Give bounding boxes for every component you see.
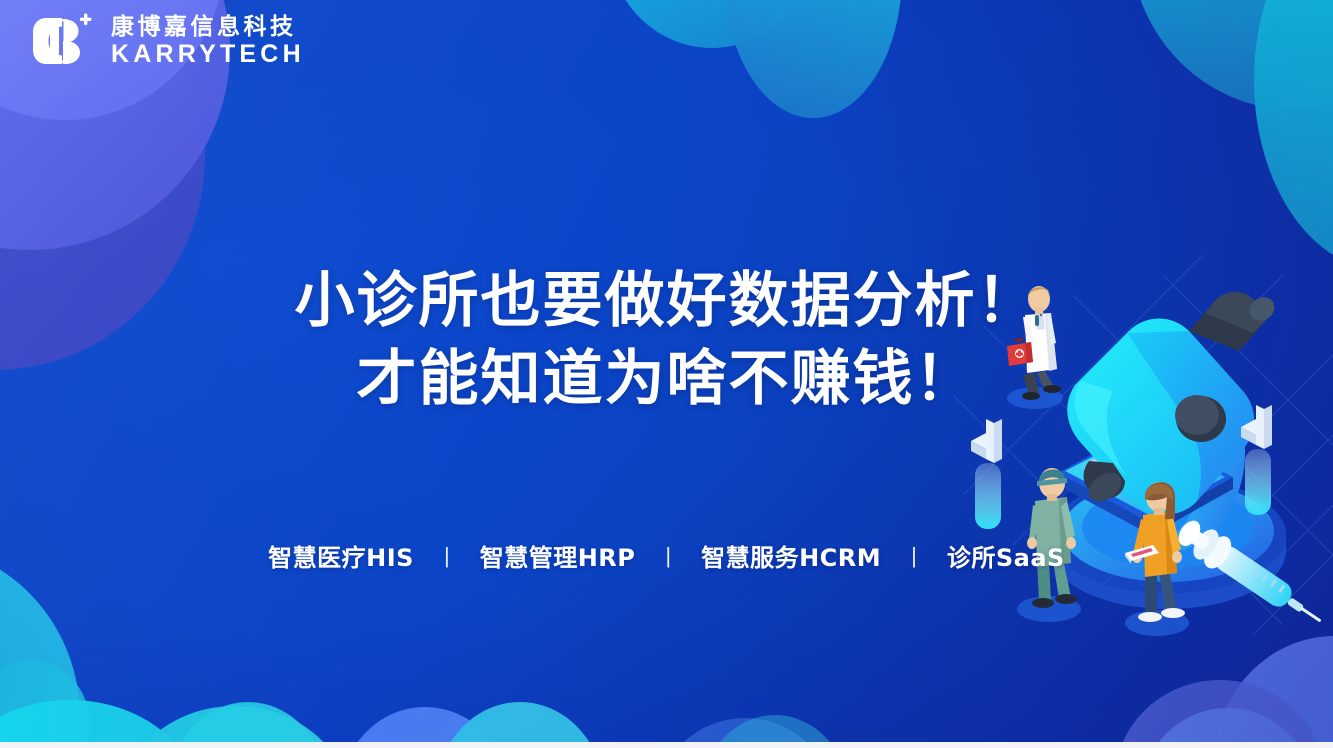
doctor-with-first-aid-kit	[1007, 286, 1063, 409]
decorative-blob-bottom-8	[1115, 680, 1325, 748]
brand-name-en: KARRYTECH	[111, 41, 305, 67]
bottom-strip	[0, 742, 1333, 748]
nav-item-his[interactable]: 智慧医疗HIS	[252, 538, 430, 573]
brand-wordmark: 康博嘉信息科技 KARRYTECH	[111, 15, 305, 68]
decorative-blob-cyan-1	[608, 0, 816, 48]
decorative-blob-cyan-3	[1130, 0, 1333, 110]
brand-name-cn: 康博嘉信息科技	[111, 15, 305, 41]
nav-item-hrp[interactable]: 智慧管理HRP	[464, 538, 652, 573]
isometric-microscope-lab-scene	[953, 205, 1333, 645]
decorative-blob-bottom-11	[0, 660, 90, 748]
nav-item-hcrm[interactable]: 智慧服务HCRM	[685, 538, 897, 573]
product-nav: 智慧医疗HIS | 智慧管理HRP | 智慧服务HCRM | 诊所SaaS	[0, 538, 1333, 573]
karrytech-k-plus-logo	[26, 11, 98, 71]
decorative-blob-bottom-9	[1215, 636, 1333, 748]
nav-item-clinic-saas[interactable]: 诊所SaaS	[931, 538, 1081, 573]
plus-icon	[80, 14, 92, 26]
decorative-blob-cyan-2	[724, 0, 902, 118]
brand-logo[interactable]: 康博嘉信息科技 KARRYTECH	[26, 11, 305, 71]
nav-separator-1: |	[430, 543, 464, 569]
decorative-blob-bottom-1	[0, 700, 200, 748]
decorative-blob-left-edge	[0, 545, 80, 748]
nav-separator-3: |	[897, 543, 931, 569]
nav-separator-2: |	[651, 543, 685, 569]
promo-slide: 康博嘉信息科技 KARRYTECH 小诊所也要做好数据分析！ 才能知道为啥不赚钱…	[0, 0, 1333, 748]
test-tube-left	[971, 419, 1002, 529]
